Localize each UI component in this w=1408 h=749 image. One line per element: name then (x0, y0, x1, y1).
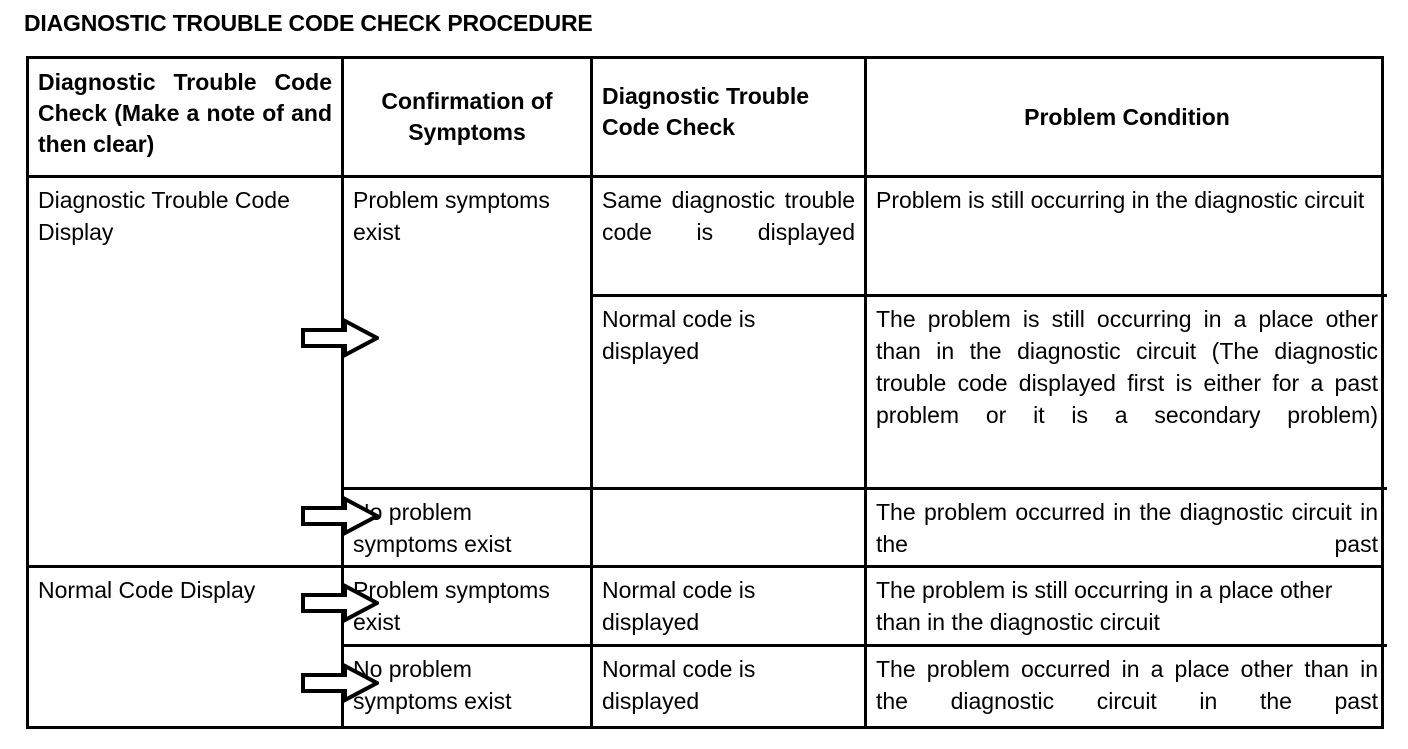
header-cell-code-check: Diagnostic Trouble Code Check (593, 59, 864, 175)
cell-problem-symptoms-exist-2: Problem symptoms exist (344, 568, 590, 644)
cell-code-check-empty (593, 490, 864, 565)
header-cell-problem-condition: Problem Condition (867, 59, 1387, 175)
label-problem-condition-5: The problem occurred in a place other th… (876, 653, 1378, 749)
label-problem-condition-2: The problem is still occurring in a plac… (876, 303, 1378, 463)
header-cell-dtc-check: Diagnostic Trouble Code Check (Make a no… (29, 59, 341, 175)
label-no-problem-symptoms-exist-1: No problem symptoms exist (353, 496, 581, 560)
header-label-confirmation: Confirmation of Symptoms (353, 86, 581, 148)
cell-problem-symptoms-exist-1: Problem symptoms exist (344, 178, 590, 487)
label-problem-condition-1: Problem is still occurring in the diagno… (876, 184, 1378, 216)
page-title: DIAGNOSTIC TROUBLE CODE CHECK PROCEDURE (24, 10, 593, 37)
cell-problem-condition-1: Problem is still occurring in the diagno… (867, 178, 1387, 294)
cell-problem-condition-4: The problem is still occurring in a plac… (867, 568, 1387, 644)
header-cell-confirmation: Confirmation of Symptoms (344, 59, 590, 175)
dtc-check-procedure-table: Diagnostic Trouble Code Check (Make a no… (26, 56, 1384, 729)
label-normal-code-display: Normal Code Display (38, 574, 332, 606)
label-normal-code-displayed-1: Normal code is displayed (602, 303, 855, 367)
header-label-problem-condition: Problem Condition (1024, 102, 1230, 133)
label-problem-condition-4: The problem is still occurring in a plac… (876, 574, 1378, 638)
cell-normal-code-displayed-1: Normal code is displayed (593, 297, 864, 487)
header-label-dtc-check: Diagnostic Trouble Code Check (Make a no… (38, 67, 332, 160)
label-same-dtc-displayed: Same diagnostic trouble code is displaye… (602, 184, 855, 280)
label-normal-code-displayed-2: Normal code is displayed (602, 574, 855, 638)
header-label-code-check: Diagnostic Trouble Code Check (602, 81, 855, 143)
cell-no-problem-symptoms-exist-2: No problem symptoms exist (344, 647, 590, 729)
label-problem-symptoms-exist-2: Problem symptoms exist (353, 574, 581, 638)
cell-normal-code-display: Normal Code Display (29, 568, 341, 729)
label-normal-code-displayed-3: Normal code is displayed (602, 653, 855, 717)
cell-problem-condition-2: The problem is still occurring in a plac… (867, 297, 1387, 487)
cell-dtc-display: Diagnostic Trouble Code Display (29, 178, 341, 565)
cell-normal-code-displayed-3: Normal code is displayed (593, 647, 864, 729)
label-dtc-display: Diagnostic Trouble Code Display (38, 184, 332, 248)
cell-problem-condition-3: The problem occurred in the diagnostic c… (867, 490, 1387, 565)
label-problem-symptoms-exist-1: Problem symptoms exist (353, 184, 581, 248)
label-no-problem-symptoms-exist-2: No problem symptoms exist (353, 653, 581, 717)
cell-problem-condition-5: The problem occurred in a place other th… (867, 647, 1387, 729)
cell-normal-code-displayed-2: Normal code is displayed (593, 568, 864, 644)
cell-no-problem-symptoms-exist-1: No problem symptoms exist (344, 490, 590, 565)
cell-same-dtc-displayed: Same diagnostic trouble code is displaye… (593, 178, 864, 294)
